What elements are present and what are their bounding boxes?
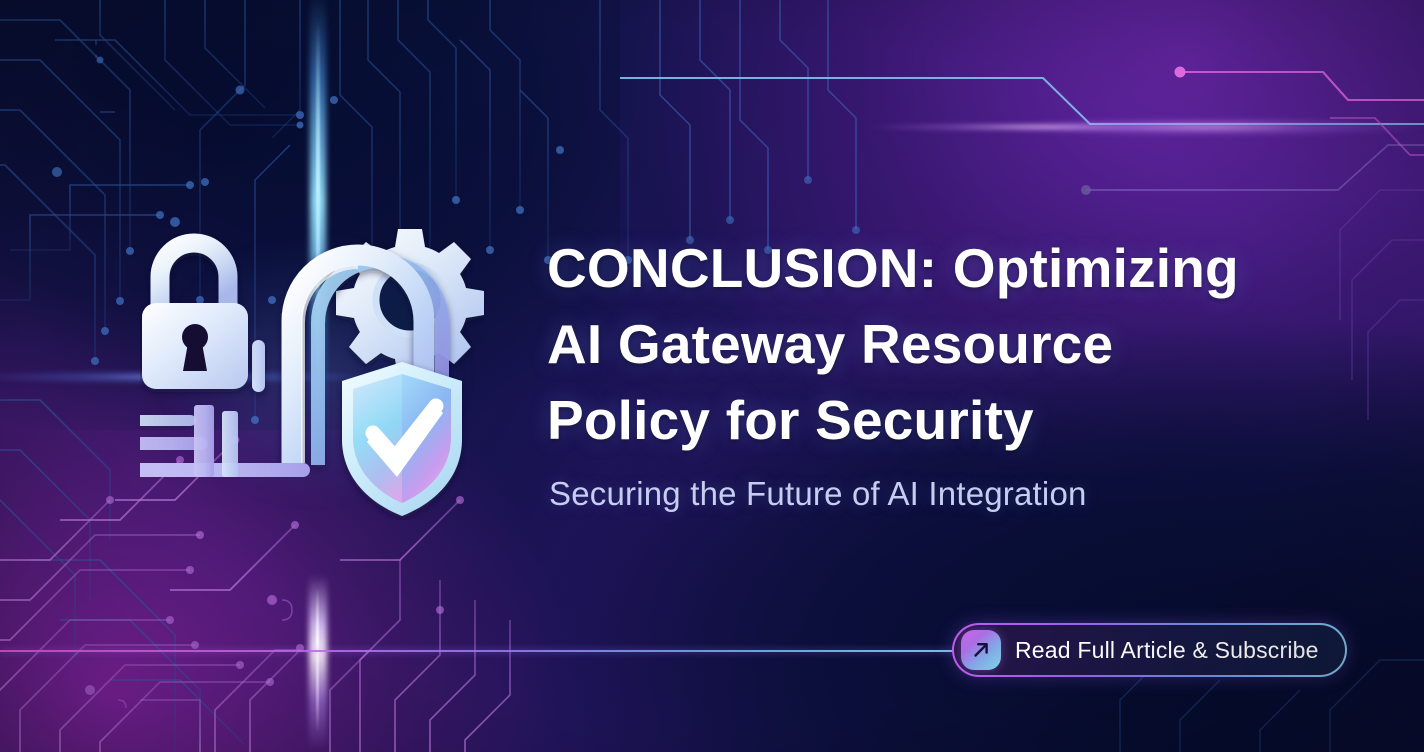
arrow-up-right-icon xyxy=(961,630,1001,670)
cta-connector-line xyxy=(0,650,960,652)
title-line-1: CONCLUSION: Optimizing xyxy=(547,230,1357,306)
page-title: CONCLUSION: Optimizing AI Gateway Resour… xyxy=(547,230,1357,458)
shield-check-icon xyxy=(342,362,462,516)
vertical-light-beam-bottom-core xyxy=(316,588,319,733)
page-subtitle: Securing the Future of AI Integration xyxy=(549,475,1087,513)
cta-label: Read Full Article & Subscribe xyxy=(1015,637,1319,664)
padlock-icon xyxy=(142,243,248,389)
title-line-2: AI Gateway Resource xyxy=(547,306,1357,382)
read-full-article-button[interactable]: Read Full Article & Subscribe xyxy=(952,623,1347,677)
banner-canvas: CONCLUSION: Optimizing AI Gateway Resour… xyxy=(0,0,1424,752)
horizontal-light-streak-right-2 xyxy=(860,122,1220,132)
security-gateway-illustration xyxy=(140,215,485,520)
title-line-3: Policy for Security xyxy=(547,382,1357,458)
